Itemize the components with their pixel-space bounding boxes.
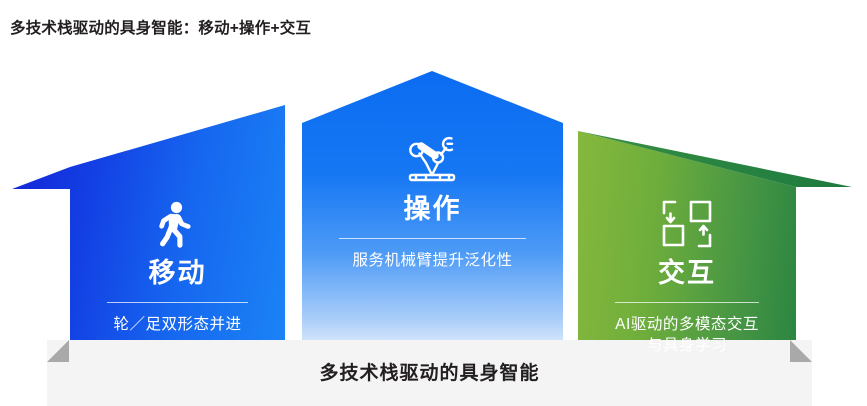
- panel-operate-divider: [339, 238, 527, 239]
- page-title: 多技术栈驱动的具身智能：移动+操作+交互: [10, 16, 311, 38]
- panel-interact-content: 交互 AI驱动的多模态交互 与具身学习: [578, 199, 796, 357]
- panel-interact-description: AI驱动的多模态交互 与具身学习: [615, 315, 759, 357]
- robotic-arm-icon: [402, 133, 464, 190]
- house-diagram: 多技术栈驱动的具身智能 移动 轮／足双形态并进: [0, 55, 867, 406]
- panel-move-heading: 移动: [149, 258, 207, 289]
- panel-interact[interactable]: 交互 AI驱动的多模态交互 与具身学习: [578, 113, 852, 340]
- panel-operate-description: 服务机械臂提升泛化性: [352, 251, 512, 272]
- interaction-exchange-icon: [661, 199, 713, 254]
- panel-move-description: 轮／足双形态并进: [113, 315, 241, 336]
- walking-person-icon: [158, 201, 198, 254]
- panel-operate[interactable]: 操作 服务机械臂提升泛化性: [302, 71, 563, 340]
- panel-operate-content: 操作 服务机械臂提升泛化性: [302, 133, 563, 272]
- panel-operate-heading: 操作: [404, 194, 462, 225]
- panel-move-divider: [107, 302, 249, 303]
- panel-interact-heading: 交互: [658, 258, 716, 289]
- panel-move[interactable]: 移动 轮／足双形态并进: [12, 105, 285, 340]
- panel-move-content: 移动 轮／足双形态并进: [70, 201, 285, 336]
- panel-interact-divider: [615, 302, 759, 303]
